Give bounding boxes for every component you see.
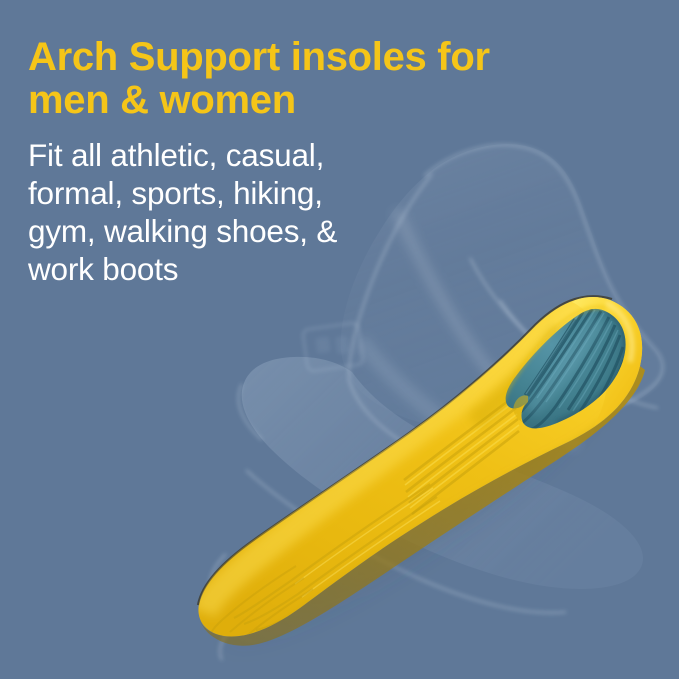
product-poster: Arch Support insoles for men & women Fit…	[0, 0, 679, 679]
page-title: Arch Support insoles for men & women	[28, 36, 568, 122]
subtitle-text: Fit all athletic, casual, formal, sports…	[28, 122, 568, 288]
copy-block: Arch Support insoles for men & women Fit…	[28, 36, 568, 288]
